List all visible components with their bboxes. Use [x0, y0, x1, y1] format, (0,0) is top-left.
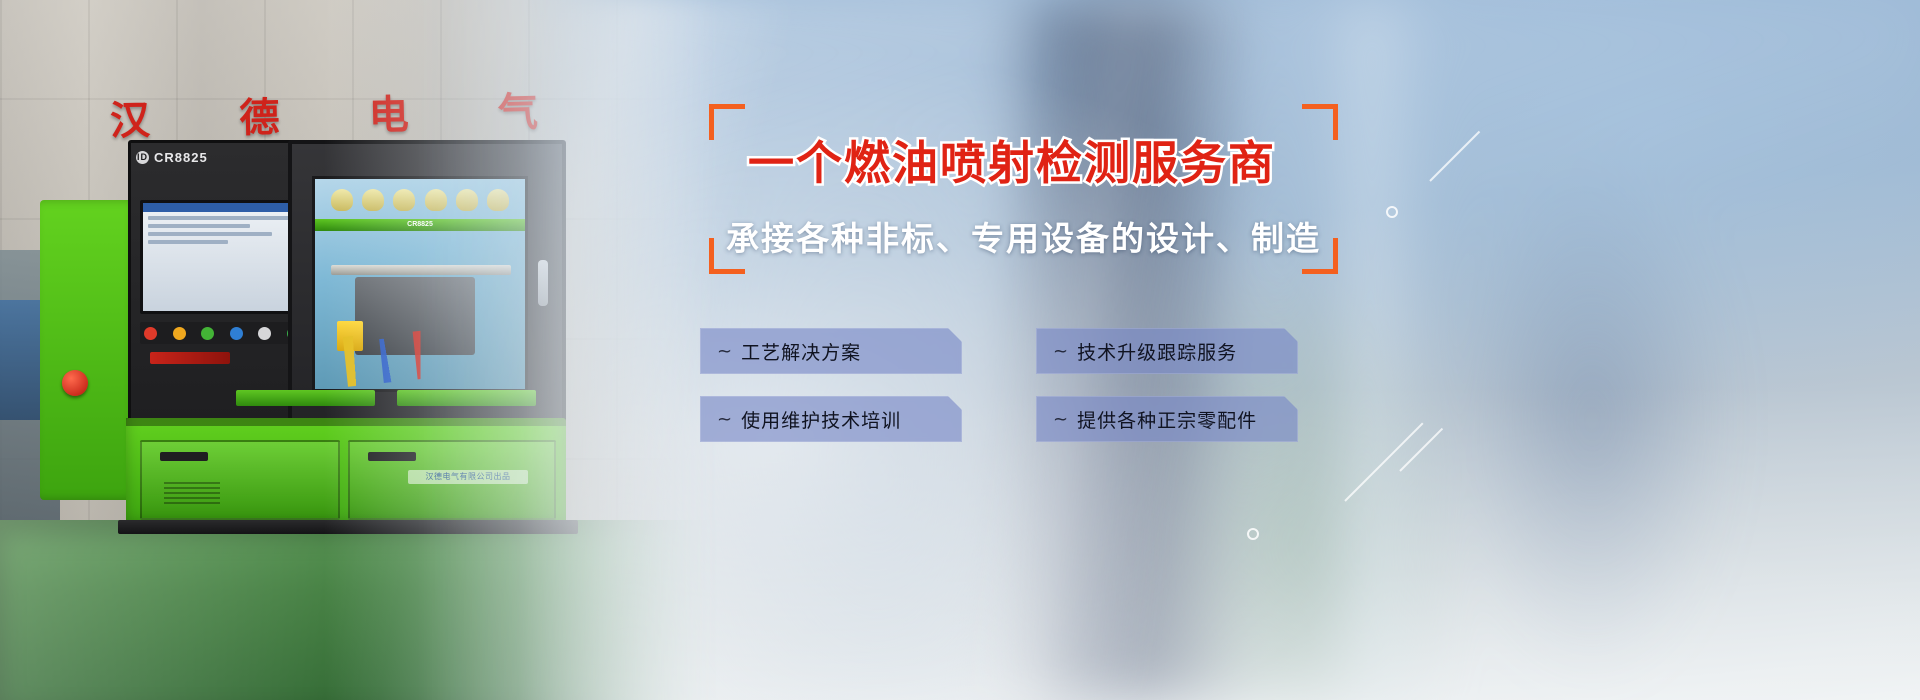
feature-pill-genuine-parts[interactable]: ~ 提供各种正宗零配件 — [1036, 396, 1298, 442]
feature-pill-maintenance-training[interactable]: ~ 使用维护技术培训 — [700, 396, 962, 442]
banner-content: 一个燃油喷射检测服务商 承接各种非标、专用设备的设计、制造 ~ 工艺解决方案 ~… — [0, 0, 1920, 700]
feature-pill-list: ~ 工艺解决方案 ~ 技术升级跟踪服务 ~ 使用维护技术培训 ~ 提供各种正宗零… — [700, 328, 1300, 442]
banner-headline: 一个燃油喷射检测服务商 — [748, 140, 1276, 186]
banner-subheadline: 承接各种非标、专用设备的设计、制造 — [726, 222, 1321, 255]
pill-label: 使用维护技术培训 — [741, 406, 901, 433]
pill-prefix: ~ — [717, 409, 733, 430]
feature-pill-process-solution[interactable]: ~ 工艺解决方案 — [700, 328, 962, 374]
pill-prefix: ~ — [1053, 409, 1069, 430]
pill-prefix: ~ — [1053, 341, 1069, 362]
pill-label: 提供各种正宗零配件 — [1077, 406, 1257, 433]
pill-label: 工艺解决方案 — [741, 338, 861, 365]
pill-label: 技术升级跟踪服务 — [1077, 338, 1237, 365]
pill-prefix: ~ — [717, 341, 733, 362]
feature-pill-tech-upgrade-service[interactable]: ~ 技术升级跟踪服务 — [1036, 328, 1298, 374]
hero-banner: 汉 德 电 气 ID CR8825 — [0, 0, 1920, 700]
